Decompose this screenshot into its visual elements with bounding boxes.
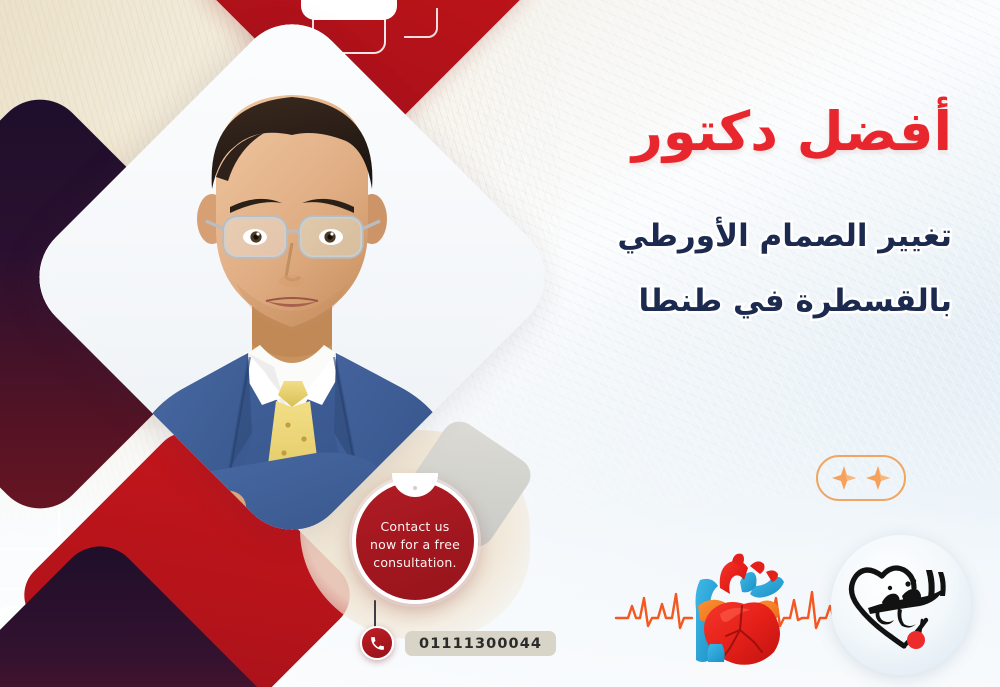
page-title: أفضل دكتور	[532, 104, 952, 161]
sparkle-decoration	[816, 455, 906, 501]
sparkle-icon	[863, 463, 893, 493]
contact-line-3: consultation.	[370, 554, 460, 572]
phone-number-badge[interactable]: 01111300044	[405, 631, 556, 656]
logo-arabic-script	[868, 570, 946, 628]
contact-badge[interactable]: Contact us now for a free consultation.	[352, 478, 478, 604]
contact-line-1: Contact us	[370, 518, 460, 536]
logo-accent-dot	[907, 631, 925, 649]
contact-line-2: now for a free	[370, 536, 460, 554]
heart-illustration	[614, 548, 839, 668]
phone-icon[interactable]	[360, 626, 394, 660]
logo-heart-calligraphy	[842, 550, 960, 660]
subtitle-line-1: تغيير الصمام الأورطي	[492, 218, 952, 255]
ecg-line-left	[616, 594, 692, 628]
contact-text: Contact us now for a free consultation.	[370, 510, 460, 571]
advertisement-banner: أفضل دكتور تغيير الصمام الأورطي بالقسطرة…	[0, 0, 1000, 687]
red-shape-outline-2	[404, 8, 438, 38]
sparkle-icon	[829, 463, 859, 493]
subtitle-line-2: بالقسطرة في طنطا	[492, 283, 952, 320]
contact-notch-dot	[413, 486, 417, 490]
clinic-logo[interactable]	[831, 535, 971, 675]
phone-glyph	[369, 635, 386, 652]
heart-ecg-graphic	[614, 548, 839, 668]
